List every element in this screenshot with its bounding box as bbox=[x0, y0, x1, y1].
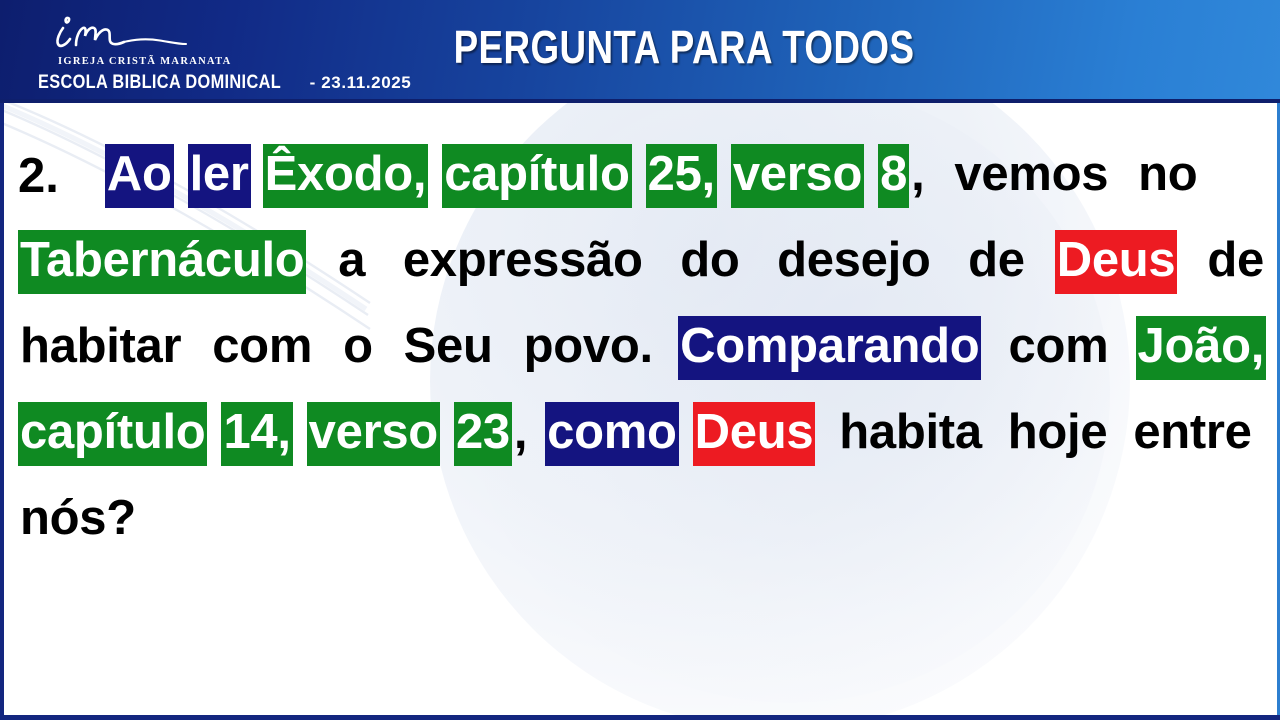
highlighted-token: ler bbox=[188, 144, 251, 208]
text-line: capítulo14,verso23,comoDeushabitahojeent… bbox=[18, 391, 1266, 477]
highlighted-token: capítulo bbox=[442, 144, 631, 208]
item-number: 2. bbox=[18, 148, 61, 204]
text-line: 2.AolerÊxodo,capítulo25,verso8,vemosno bbox=[18, 133, 1266, 219]
highlighted-token: verso bbox=[307, 402, 440, 466]
question-text-block: 2.AolerÊxodo,capítulo25,verso8,vemosnoTa… bbox=[18, 133, 1266, 563]
text-token: , bbox=[909, 144, 926, 208]
text-token: habitar bbox=[18, 316, 183, 380]
text-token: vemos bbox=[952, 144, 1110, 208]
text-token: com bbox=[1007, 316, 1111, 380]
highlighted-token: Deus bbox=[1055, 230, 1178, 294]
highlighted-token: 14, bbox=[221, 402, 292, 466]
date-label: - 23.11.2025 bbox=[310, 73, 412, 93]
text-token: desejo bbox=[775, 230, 932, 294]
highlighted-token: João, bbox=[1136, 316, 1266, 380]
text-token: expressão bbox=[401, 230, 645, 294]
highlighted-token: 25, bbox=[646, 144, 717, 208]
highlighted-token: verso bbox=[731, 144, 864, 208]
text-token: de bbox=[1205, 230, 1266, 294]
highlighted-token: Tabernáculo bbox=[18, 230, 306, 294]
slide-canvas: IGREJA CRISTÃ MARANATA ESCOLA BIBLICA DO… bbox=[0, 0, 1280, 720]
text-token: Seu bbox=[402, 316, 495, 380]
slide-header: IGREJA CRISTÃ MARANATA ESCOLA BIBLICA DO… bbox=[0, 0, 1280, 103]
text-token: , bbox=[512, 402, 529, 466]
text-token: do bbox=[678, 230, 741, 294]
text-token: a bbox=[336, 230, 367, 294]
highlighted-token: como bbox=[545, 402, 678, 466]
text-token: entre bbox=[1131, 402, 1253, 466]
highlighted-token: Êxodo, bbox=[263, 144, 429, 208]
school-date-line: ESCOLA BIBLICA DOMINICAL - 23.11.2025 bbox=[38, 72, 411, 94]
highlighted-token: Deus bbox=[693, 402, 816, 466]
page-title: PERGUNTA PARA TODOS bbox=[128, 20, 1152, 74]
highlighted-token: capítulo bbox=[18, 402, 207, 466]
text-token: de bbox=[966, 230, 1027, 294]
text-token: no bbox=[1136, 144, 1199, 208]
text-token: o bbox=[341, 316, 375, 380]
text-token: hoje bbox=[1006, 402, 1110, 466]
text-token: com bbox=[210, 316, 314, 380]
school-label: ESCOLA BIBLICA DOMINICAL bbox=[38, 72, 281, 94]
text-token: habita bbox=[837, 402, 984, 466]
highlighted-token: Comparando bbox=[678, 316, 981, 380]
text-token: nós? bbox=[18, 488, 138, 552]
highlighted-token: Ao bbox=[105, 144, 174, 208]
text-line: TabernáculoaexpressãododesejodeDeusde bbox=[18, 219, 1266, 305]
highlighted-token: 8 bbox=[878, 144, 909, 208]
text-token: povo. bbox=[522, 316, 655, 380]
text-line: habitarcomoSeupovo.ComparandocomJoão, bbox=[18, 305, 1266, 391]
bottom-border bbox=[0, 715, 1280, 720]
text-line: nós? bbox=[18, 477, 1266, 563]
slide-body: 2.AolerÊxodo,capítulo25,verso8,vemosnoTa… bbox=[0, 103, 1280, 720]
highlighted-token: 23 bbox=[454, 402, 512, 466]
